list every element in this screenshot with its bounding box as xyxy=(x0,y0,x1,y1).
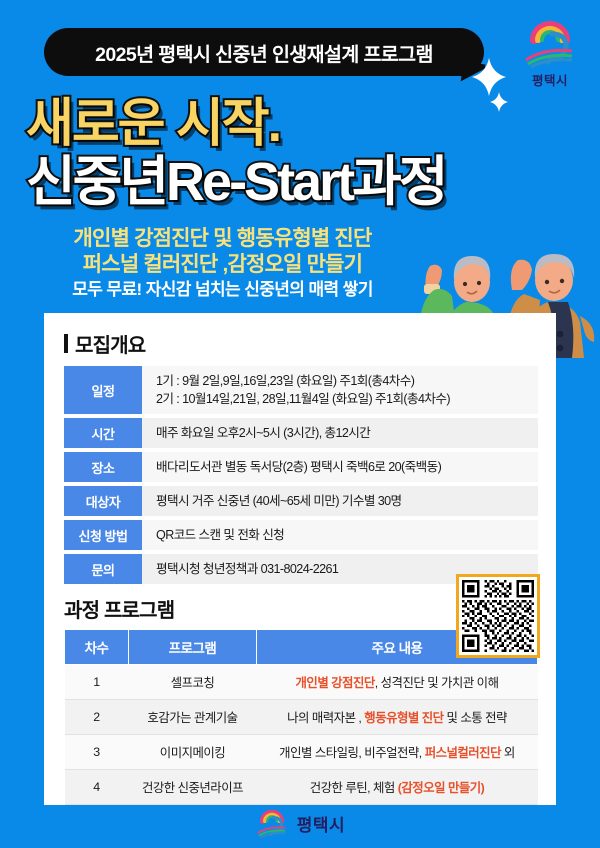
overview-row-value: 배다리도서관 별동 독서당(2층) 평택시 죽백6로 20(죽백동) xyxy=(142,452,538,482)
program-highlight: (감정오일 만들기) xyxy=(398,781,485,795)
program-row-name: 이미지메이킹 xyxy=(129,735,257,770)
program-content-post: 및 소통 전략 xyxy=(444,711,507,725)
program-row-content: 개인별 강점진단, 성격진단 및 가치관 이해 xyxy=(257,665,538,700)
pyeongtaek-logo-icon xyxy=(522,18,578,68)
overview-row: 장소 배다리도서관 별동 독서당(2층) 평택시 죽백6로 20(죽백동) xyxy=(64,452,538,482)
overview-row-label: 대상자 xyxy=(64,486,142,516)
program-col-name: 프로그램 xyxy=(129,630,257,665)
overview-row-value: QR코드 스캔 및 전화 신청 xyxy=(142,520,538,550)
overview-row: 시간 매주 화요일 오후2시~5시 (3시간), 총12시간 xyxy=(64,418,538,448)
table-row: 1 셀프코칭 개인별 강점진단, 성격진단 및 가치관 이해 xyxy=(65,665,538,700)
poster-root: 2025년 평택시 신중년 인생재설계 프로그램 평택시 새로운 시작. 신중년… xyxy=(0,0,600,848)
subcopy-line-3: 모두 무료! 자신감 넘치는 신중년의 매력 쌓기 xyxy=(0,278,445,302)
program-content-pre: 나의 매력자본 , xyxy=(287,711,364,725)
city-logo-top-label: 평택시 xyxy=(532,70,568,89)
overview-row: 대상자 평택시 거주 신중년 (40세~65세 미만) 기수별 30명 xyxy=(64,486,538,516)
overview-value-line: 매주 화요일 오후2시~5시 (3시간), 총12시간 xyxy=(156,424,538,442)
table-row: 4 건강한 신중년라이프 건강한 루틴, 체험 (감정오일 만들기) xyxy=(65,770,538,805)
headline-block: 새로운 시작. 신중년Re-Start과정 xyxy=(26,96,586,212)
overview-value-line: 평택시 거주 신중년 (40세~65세 미만) 기수별 30명 xyxy=(156,492,538,510)
program-col-no: 차수 xyxy=(65,630,129,665)
footer-logo: 평택시 xyxy=(0,808,600,838)
overview-section-title: 모집개요 xyxy=(64,329,556,358)
table-row: 2 호감가는 관계기술 나의 매력자본 , 행동유형별 진단 및 소통 전략 xyxy=(65,700,538,735)
header-ribbon: 2025년 평택시 신중년 인생재설계 프로그램 xyxy=(44,28,484,76)
ribbon-title: 2025년 평택시 신중년 인생재설계 프로그램 xyxy=(95,38,433,67)
program-row-name: 호감가는 관계기술 xyxy=(129,700,257,735)
overview-value-line: 1기 : 9월 2일,9일,16일,23일 (화요일) 주1회(총4차수) xyxy=(156,372,538,390)
subcopy-block: 개인별 강점진단 및 행동유형별 진단 퍼스널 컬러진단 ,감정오일 만들기 모… xyxy=(0,226,445,302)
program-content-post: , 성격진단 및 가치관 이해 xyxy=(375,676,499,690)
overview-row-label: 장소 xyxy=(64,452,142,482)
sparkle-icon-large xyxy=(472,58,506,96)
overview-row: 일정 1기 : 9월 2일,9일,16일,23일 (화요일) 주1회(총4차수)… xyxy=(64,366,538,414)
headline-line-1: 새로운 시작. xyxy=(26,96,586,152)
program-row-content: 개인별 스타일링, 비주얼전략, 퍼스널컬러진단 외 xyxy=(257,735,538,770)
overview-row-label: 문의 xyxy=(64,554,142,584)
program-highlight: 행동유형별 진단 xyxy=(364,711,443,725)
program-row-name: 건강한 신중년라이프 xyxy=(129,770,257,805)
overview-row-value: 매주 화요일 오후2시~5시 (3시간), 총12시간 xyxy=(142,418,538,448)
program-content-pre: 개인별 스타일링, 비주얼전략, xyxy=(279,746,425,760)
program-content-pre: 건강한 루틴, 체험 xyxy=(310,781,398,795)
program-content-post: 외 xyxy=(501,746,515,760)
overview-row-label: 일정 xyxy=(64,366,142,414)
program-row-content: 나의 매력자본 , 행동유형별 진단 및 소통 전략 xyxy=(257,700,538,735)
pyeongtaek-logo-icon xyxy=(255,808,289,838)
overview-table: 일정 1기 : 9월 2일,9일,16일,23일 (화요일) 주1회(총4차수)… xyxy=(64,366,538,584)
qr-code[interactable] xyxy=(456,574,540,658)
headline-line-2: 신중년Re-Start과정 xyxy=(26,152,586,212)
overview-row-value: 1기 : 9월 2일,9일,16일,23일 (화요일) 주1회(총4차수) 2기… xyxy=(142,366,538,414)
subcopy-line-2: 퍼스널 컬러진단 ,감정오일 만들기 xyxy=(0,252,445,278)
overview-value-line: 배다리도서관 별동 독서당(2층) 평택시 죽백6로 20(죽백동) xyxy=(156,458,538,476)
subcopy-line-1: 개인별 강점진단 및 행동유형별 진단 xyxy=(0,226,445,252)
table-row: 3 이미지메이킹 개인별 스타일링, 비주얼전략, 퍼스널컬러진단 외 xyxy=(65,735,538,770)
overview-value-line: 2기 : 10월14일,21일, 28일,11월4일 (화요일) 주1회(총4차… xyxy=(156,390,538,408)
overview-row-value: 평택시 거주 신중년 (40세~65세 미만) 기수별 30명 xyxy=(142,486,538,516)
program-row-content: 건강한 루틴, 체험 (감정오일 만들기) xyxy=(257,770,538,805)
overview-row: 신청 방법 QR코드 스캔 및 전화 신청 xyxy=(64,520,538,550)
program-row-no: 2 xyxy=(65,700,129,735)
qr-code-image xyxy=(462,580,534,652)
footer-logo-label: 평택시 xyxy=(297,811,345,836)
overview-row-label: 신청 방법 xyxy=(64,520,142,550)
city-logo-top: 평택시 xyxy=(512,18,588,94)
info-card: 모집개요 일정 1기 : 9월 2일,9일,16일,23일 (화요일) 주1회(… xyxy=(44,313,556,805)
program-row-no: 4 xyxy=(65,770,129,805)
program-highlight: 퍼스널컬러진단 xyxy=(425,746,501,760)
overview-row-label: 시간 xyxy=(64,418,142,448)
program-row-name: 셀프코칭 xyxy=(129,665,257,700)
program-row-no: 1 xyxy=(65,665,129,700)
program-row-no: 3 xyxy=(65,735,129,770)
overview-value-line: QR코드 스캔 및 전화 신청 xyxy=(156,526,538,544)
program-highlight: 개인별 강점진단 xyxy=(296,676,375,690)
